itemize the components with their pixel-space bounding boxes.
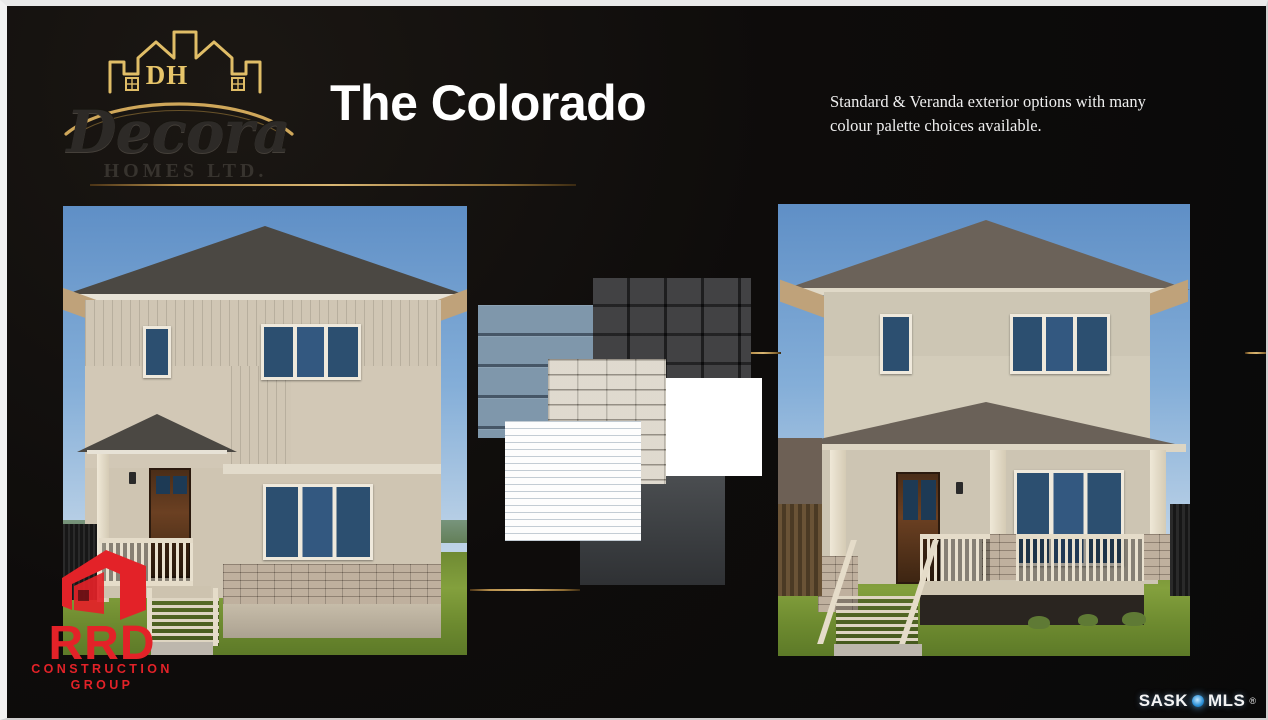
watermark-mls-text: MLS <box>1208 691 1245 711</box>
decora-homes-logo: DH Decora HOMES LTD. <box>78 24 308 192</box>
porch-light <box>956 482 963 494</box>
rrd-house-mark-icon <box>60 548 150 622</box>
main-window-triple <box>263 484 373 560</box>
veranda-post-right <box>1150 450 1166 534</box>
shrub-2 <box>1078 614 1098 626</box>
front-walkway <box>834 644 922 656</box>
rrd-construction-logo: RRD CONSTRUCTION GROUP <box>22 548 182 700</box>
watermark-registered-mark: ® <box>1249 696 1256 706</box>
presentation-slide: DH Decora HOMES LTD. The Colorado Standa… <box>0 0 1268 720</box>
swatch-white-trim[interactable] <box>666 378 762 476</box>
wood-fence-left <box>778 504 822 596</box>
entry-roof <box>77 414 237 452</box>
logo-subtitle: HOMES LTD. <box>78 160 293 183</box>
lower-wall-trim <box>223 464 441 474</box>
sask-mls-watermark: SASK MLS ® <box>1139 690 1256 712</box>
shrub-3 <box>1122 612 1146 626</box>
shrub-1 <box>1028 616 1050 629</box>
rrd-line-2: GROUP <box>22 678 182 692</box>
railing-balusters-right <box>1016 539 1144 581</box>
page-title: The Colorado <box>330 74 646 132</box>
veranda-post-left <box>830 450 846 562</box>
colour-palette-swatches <box>470 260 780 600</box>
logo-script-name: Decora <box>54 98 302 166</box>
veranda-exterior-photo[interactable] <box>778 204 1190 656</box>
door-lite-right <box>921 480 936 520</box>
gold-divider-top-left <box>90 184 576 186</box>
door-lite-left <box>156 476 170 494</box>
upper-window-left <box>880 314 912 374</box>
stone-veneer <box>223 564 441 606</box>
foundation <box>223 604 441 638</box>
gold-divider-mid-right <box>1245 352 1268 354</box>
main-roof <box>782 220 1190 290</box>
step-rail-right <box>213 588 218 646</box>
upper-window-triple <box>261 324 361 380</box>
upper-window-triple <box>1010 314 1110 374</box>
page-subtitle: Standard & Veranda exterior options with… <box>830 90 1190 138</box>
swatch-white-woodgrain-siding[interactable] <box>505 421 641 541</box>
upper-wall-vertical-band <box>231 366 291 474</box>
main-roof <box>63 226 467 298</box>
mls-dot-icon <box>1192 695 1204 707</box>
porch-deck <box>920 581 1144 595</box>
watermark-sask-text: SASK <box>1139 691 1188 711</box>
rrd-line-1: CONSTRUCTION <box>22 662 182 676</box>
porch-light <box>129 472 136 484</box>
door-lite-left <box>903 480 918 520</box>
fence-right <box>1170 504 1190 596</box>
upper-window-left <box>143 326 171 378</box>
veranda-roof <box>788 402 1184 446</box>
door-lite-right <box>173 476 187 494</box>
veranda-post-mid <box>990 450 1006 534</box>
